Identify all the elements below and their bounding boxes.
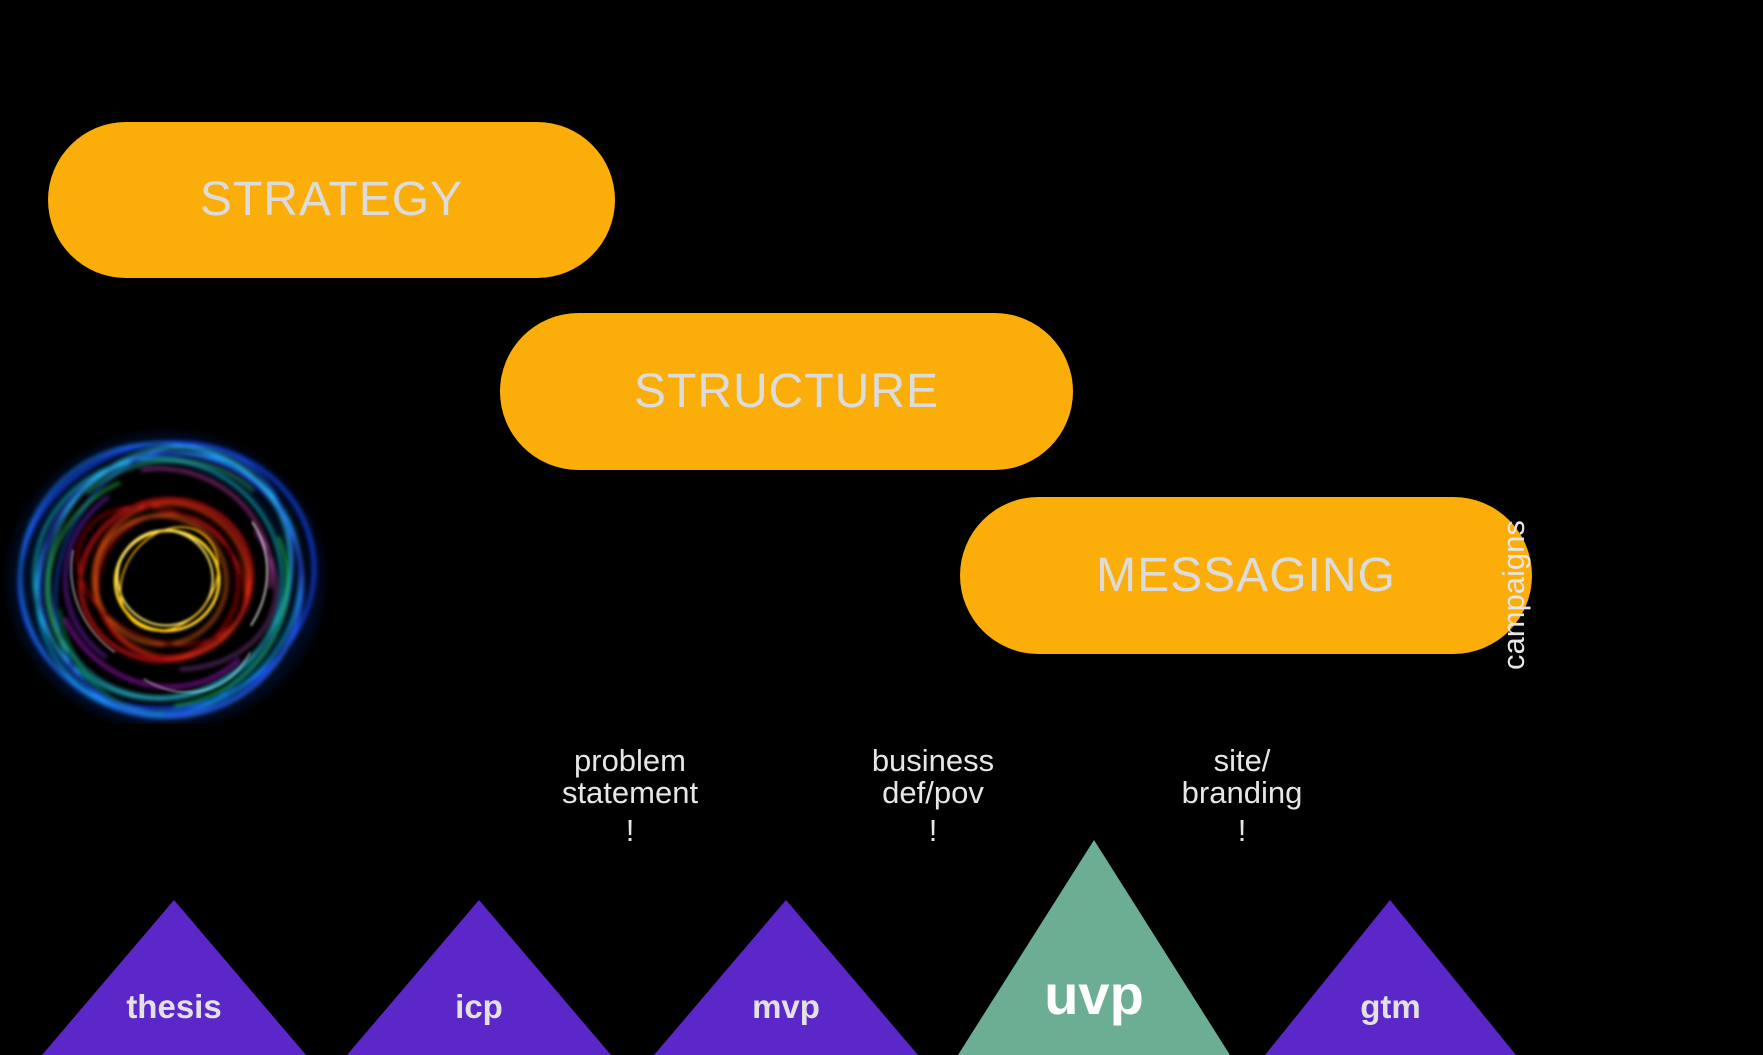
pillar-structure-label: STRUCTURE bbox=[634, 368, 939, 416]
stage-mvp-label: mvp bbox=[654, 990, 918, 1023]
connector-business-def-pov: business def/pov ! bbox=[826, 745, 1040, 847]
triangle-shape bbox=[42, 900, 306, 1055]
stage-gtm-label: gtm bbox=[1265, 990, 1516, 1023]
pillar-strategy[interactable]: STRATEGY bbox=[48, 122, 615, 278]
connector-line-1: problem bbox=[520, 745, 740, 777]
stage-icp-label: icp bbox=[347, 990, 611, 1023]
triangle-shape bbox=[347, 900, 611, 1055]
connector-line-2: branding bbox=[1136, 777, 1348, 809]
connector-line-2: statement bbox=[520, 777, 740, 809]
stage-thesis-label: thesis bbox=[42, 990, 306, 1023]
stage-icp[interactable]: icp bbox=[347, 900, 611, 1055]
spiral-vortex-artwork bbox=[0, 412, 350, 724]
stage-mvp[interactable]: mvp bbox=[654, 900, 918, 1055]
triangle-shape bbox=[1265, 900, 1516, 1055]
pillar-structure[interactable]: STRUCTURE bbox=[500, 313, 1073, 470]
connector-line-1: site/ bbox=[1136, 745, 1348, 777]
stage-uvp[interactable]: uvp bbox=[958, 840, 1230, 1055]
pillar-strategy-label: STRATEGY bbox=[200, 176, 463, 224]
connector-site-branding: site/ branding ! bbox=[1136, 745, 1348, 847]
stage-thesis[interactable]: thesis bbox=[42, 900, 306, 1055]
connector-line-2: def/pov bbox=[826, 777, 1040, 809]
pillar-messaging[interactable]: MESSAGING bbox=[960, 497, 1532, 654]
connector-marker: ! bbox=[826, 815, 1040, 847]
stage-uvp-label: uvp bbox=[958, 967, 1230, 1023]
connector-marker: ! bbox=[520, 815, 740, 847]
pillar-messaging-label: MESSAGING bbox=[1096, 552, 1396, 600]
triangle-shape bbox=[654, 900, 918, 1055]
connector-marker: ! bbox=[1136, 815, 1348, 847]
diagram-canvas: STRATEGY STRUCTURE MESSAGING bbox=[0, 0, 1763, 1055]
connector-problem-statement: problem statement ! bbox=[520, 745, 740, 847]
stage-gtm[interactable]: gtm bbox=[1265, 900, 1516, 1055]
connector-line-1: business bbox=[826, 745, 1040, 777]
